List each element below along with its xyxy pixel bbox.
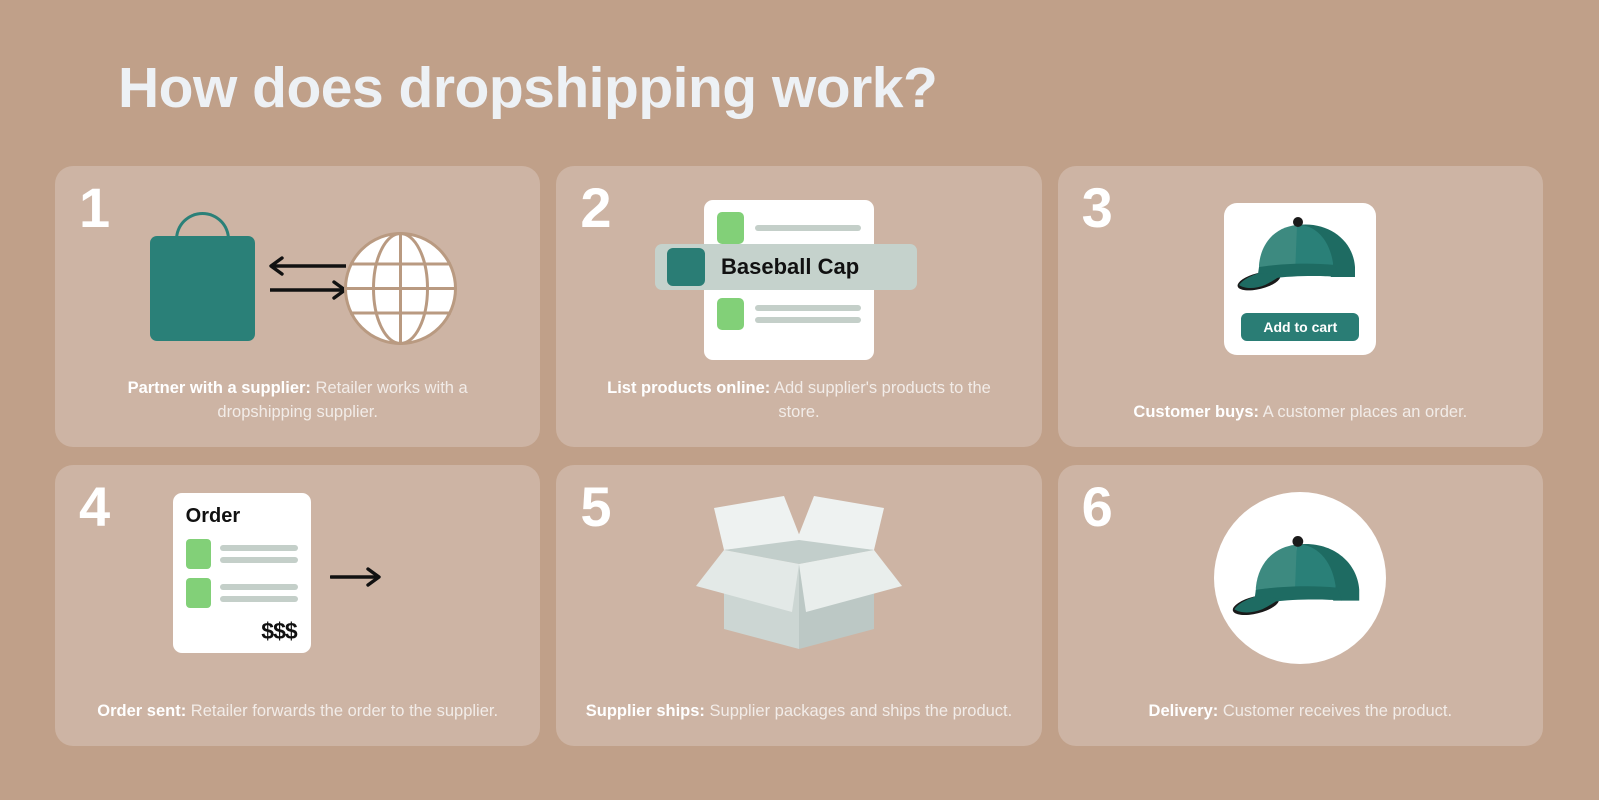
product-thumb-icon <box>667 248 705 286</box>
selected-product-row[interactable]: Baseball Cap <box>655 244 917 290</box>
caption-bold: Order sent: <box>97 702 186 720</box>
step-illustration: Add to cart <box>1058 184 1543 374</box>
step-caption: Customer buys: A customer places an orde… <box>1058 401 1543 425</box>
order-total-label: $$$ <box>261 618 296 645</box>
shopping-bag-icon <box>150 236 255 341</box>
infographic-page: How does dropshipping work? 1 <box>0 0 1599 800</box>
forward-arrow-icon <box>330 565 382 589</box>
step-card-3: 3 Add to cart Customer buys: A <box>1058 166 1543 447</box>
text-bar <box>220 545 298 551</box>
step-caption: Partner with a supplier: Retailer works … <box>55 377 540 425</box>
order-line-item <box>186 578 298 608</box>
product-card: Add to cart <box>1224 203 1376 355</box>
delivery-circle-badge <box>1214 492 1386 664</box>
caption-bold: Customer buys: <box>1133 403 1259 421</box>
page-title: How does dropshipping work? <box>118 55 937 121</box>
caption-rest: A customer places an order. <box>1259 403 1467 421</box>
order-title: Order <box>186 505 298 528</box>
list-item <box>717 212 861 244</box>
globe-icon <box>343 231 458 346</box>
caption-bold: Delivery: <box>1149 702 1219 720</box>
caption-rest: Add supplier's products to the store. <box>770 379 991 421</box>
steps-grid: 1 <box>55 166 1543 746</box>
step-illustration: Baseball Cap <box>556 184 1041 374</box>
step-card-1: 1 <box>55 166 540 447</box>
step-illustration <box>556 483 1041 673</box>
step-illustration <box>55 184 540 374</box>
baseball-cap-icon <box>1230 533 1370 623</box>
step-caption: Delivery: Customer receives the product. <box>1058 700 1543 724</box>
caption-rest: Supplier packages and ships the product. <box>705 702 1012 720</box>
caption-rest: Retailer forwards the order to the suppl… <box>186 702 498 720</box>
text-bar <box>755 225 861 231</box>
caption-bold: List products online: <box>607 379 770 397</box>
step-illustration: Order <box>55 483 540 673</box>
caption-bold: Supplier ships: <box>586 702 705 720</box>
step-illustration <box>1058 483 1543 673</box>
text-bar <box>220 557 298 563</box>
step-caption: Supplier ships: Supplier packages and sh… <box>556 700 1041 724</box>
step-caption: List products online: Add supplier's pro… <box>556 377 1041 425</box>
item-thumb-icon <box>186 539 211 569</box>
product-name-label: Baseball Cap <box>721 254 859 280</box>
text-bar <box>755 317 861 323</box>
step-card-4: 4 Order <box>55 465 540 746</box>
order-line-item <box>186 539 298 569</box>
text-bar <box>220 596 298 602</box>
open-box-icon <box>684 494 914 662</box>
product-thumb-icon <box>717 298 744 330</box>
step-caption: Order sent: Retailer forwards the order … <box>55 700 540 724</box>
text-bar <box>220 584 298 590</box>
text-bar <box>755 305 861 311</box>
caption-rest: Customer receives the product. <box>1218 702 1452 720</box>
exchange-arrows-icon <box>268 256 348 302</box>
step-card-5: 5 Supplier <box>556 465 1041 746</box>
baseball-cap-icon <box>1235 215 1365 297</box>
list-item <box>717 298 861 330</box>
step-card-2: 2 <box>556 166 1041 447</box>
product-thumb-icon <box>717 212 744 244</box>
step-card-6: 6 Delivery: Customer receives the produc <box>1058 465 1543 746</box>
caption-bold: Partner with a supplier: <box>128 379 311 397</box>
item-thumb-icon <box>186 578 211 608</box>
add-to-cart-button[interactable]: Add to cart <box>1241 313 1359 341</box>
order-form-card: Order <box>173 493 311 653</box>
